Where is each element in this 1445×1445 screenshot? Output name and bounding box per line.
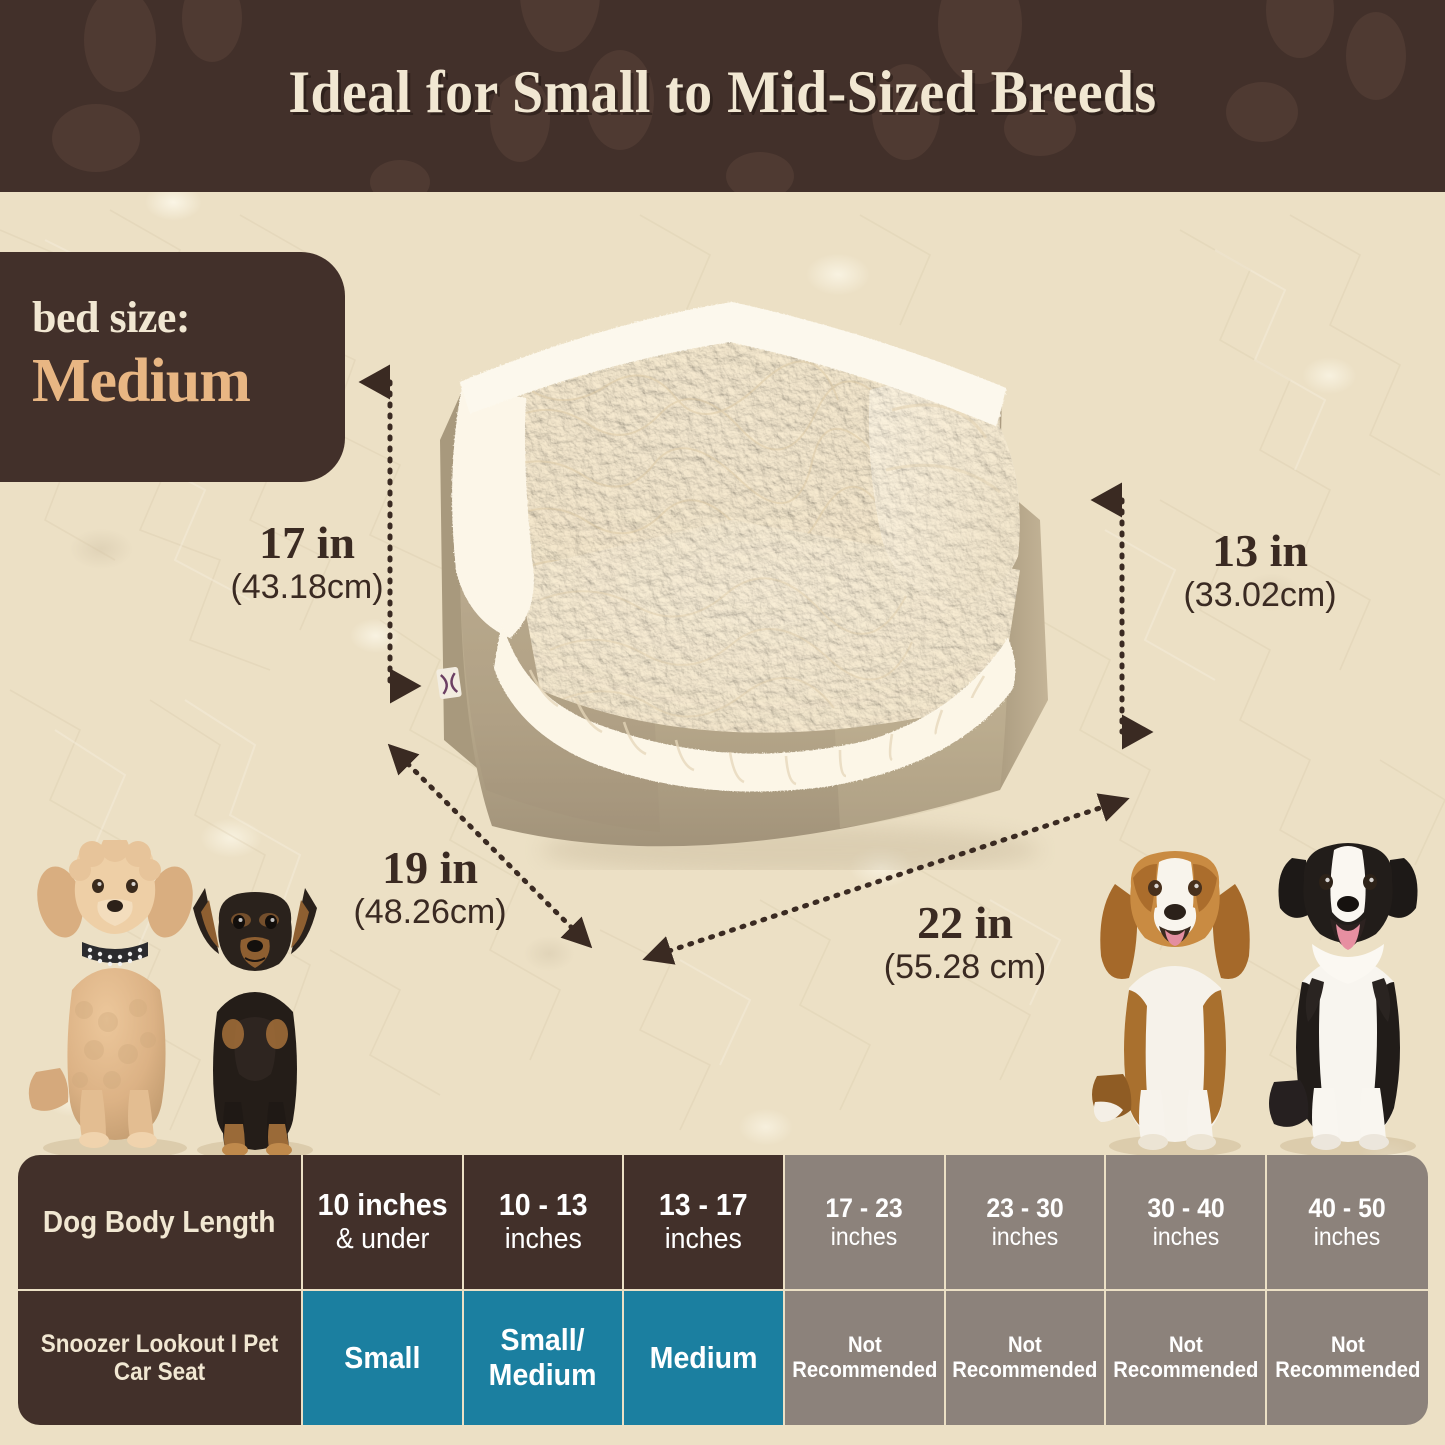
value-cell-4: NotRecommended bbox=[946, 1291, 1107, 1425]
dog-photo-beagle bbox=[1085, 838, 1265, 1158]
value-cell-2: Medium bbox=[624, 1291, 785, 1425]
header-cell-6: 40 - 50 inches bbox=[1267, 1155, 1428, 1291]
header-cell-2-num: 13 - 17 bbox=[659, 1188, 748, 1223]
dimension-height-inches: 17 in bbox=[192, 520, 422, 566]
header-cell-3: 17 - 23 inches bbox=[785, 1155, 946, 1291]
header-cell-2-unit: inches bbox=[659, 1223, 748, 1255]
header-cell-5-unit: inches bbox=[1147, 1223, 1224, 1251]
page-title: Ideal for Small to Mid-Sized Breeds bbox=[51, 58, 1395, 127]
dimension-depth-left: 19 in (48.26cm) bbox=[310, 845, 550, 934]
dimension-depth-left-cm: (48.26cm) bbox=[310, 891, 550, 934]
value-cell-6: NotRecommended bbox=[1267, 1291, 1428, 1425]
value-cell-1: Small/Medium bbox=[464, 1291, 625, 1425]
table-header-row: Dog Body Length 10 inches & under 10 - 1… bbox=[18, 1155, 1428, 1291]
table-row-label-product: Snoozer Lookout I Pet Car Seat bbox=[18, 1291, 303, 1425]
dimension-width: 22 in (55.28 cm) bbox=[840, 900, 1090, 989]
row-label-product-text: Snoozer Lookout I Pet Car Seat bbox=[32, 1330, 287, 1386]
brand-tag bbox=[436, 667, 462, 700]
dimension-height: 17 in (43.18cm) bbox=[192, 520, 422, 609]
dog-photo-miniature-pinscher bbox=[175, 862, 335, 1160]
dimension-width-inches: 22 in bbox=[840, 900, 1090, 946]
header-cell-5: 30 - 40 inches bbox=[1106, 1155, 1267, 1291]
table-row-label-dog-body-length: Dog Body Length bbox=[18, 1155, 303, 1291]
header-cell-2: 13 - 17 inches bbox=[624, 1155, 785, 1291]
dimension-width-cm: (55.28 cm) bbox=[840, 946, 1090, 989]
header-cell-1-unit: inches bbox=[499, 1223, 588, 1255]
value-cell-3: NotRecommended bbox=[785, 1291, 946, 1425]
value-cell-3-text: NotRecommended bbox=[792, 1333, 937, 1382]
header-cell-0: 10 inches & under bbox=[303, 1155, 464, 1291]
dimension-depth-right-inches: 13 in bbox=[1145, 528, 1375, 574]
header-cell-4: 23 - 30 inches bbox=[946, 1155, 1107, 1291]
header-cell-6-unit: inches bbox=[1309, 1223, 1386, 1251]
infographic-page: Ideal for Small to Mid-Sized Breeds bed … bbox=[0, 0, 1445, 1445]
value-cell-1-text: Small/Medium bbox=[489, 1323, 597, 1392]
dimension-height-cm: (43.18cm) bbox=[192, 566, 422, 609]
dimension-depth-right: 13 in (33.02cm) bbox=[1145, 528, 1375, 617]
bed-size-label: bed size: bbox=[32, 296, 345, 340]
value-cell-0: Small bbox=[303, 1291, 464, 1425]
header-banner: Ideal for Small to Mid-Sized Breeds bbox=[0, 0, 1445, 192]
dimension-depth-right-cm: (33.02cm) bbox=[1145, 574, 1375, 617]
value-cell-0-text: Small bbox=[344, 1341, 420, 1376]
dog-photo-border-collie bbox=[1258, 832, 1438, 1158]
header-cell-5-num: 30 - 40 bbox=[1147, 1193, 1224, 1223]
header-cell-0-unit: & under bbox=[317, 1223, 447, 1255]
header-cell-4-unit: inches bbox=[986, 1223, 1063, 1251]
header-cell-1: 10 - 13 inches bbox=[464, 1155, 625, 1291]
row-label-text: Dog Body Length bbox=[43, 1205, 275, 1240]
value-cell-2-text: Medium bbox=[650, 1341, 758, 1376]
header-cell-0-num: 10 inches bbox=[317, 1188, 447, 1223]
pet-car-seat-product-image bbox=[400, 270, 1160, 870]
value-cell-4-text: NotRecommended bbox=[953, 1333, 1098, 1382]
value-cell-5-text: NotRecommended bbox=[1113, 1333, 1258, 1382]
sizing-table: Dog Body Length 10 inches & under 10 - 1… bbox=[18, 1155, 1428, 1425]
header-cell-1-num: 10 - 13 bbox=[499, 1188, 588, 1223]
bed-size-badge: bed size: Medium bbox=[0, 252, 345, 482]
header-cell-6-num: 40 - 50 bbox=[1309, 1193, 1386, 1223]
header-cell-4-num: 23 - 30 bbox=[986, 1193, 1063, 1223]
value-cell-6-text: NotRecommended bbox=[1275, 1333, 1420, 1382]
table-value-row: Snoozer Lookout I Pet Car Seat Small Sma… bbox=[18, 1291, 1428, 1425]
value-cell-5: NotRecommended bbox=[1106, 1291, 1267, 1425]
header-cell-3-num: 17 - 23 bbox=[826, 1193, 903, 1223]
header-cell-3-unit: inches bbox=[826, 1223, 903, 1251]
dimension-depth-left-inches: 19 in bbox=[310, 845, 550, 891]
bed-size-value: Medium bbox=[32, 346, 345, 417]
